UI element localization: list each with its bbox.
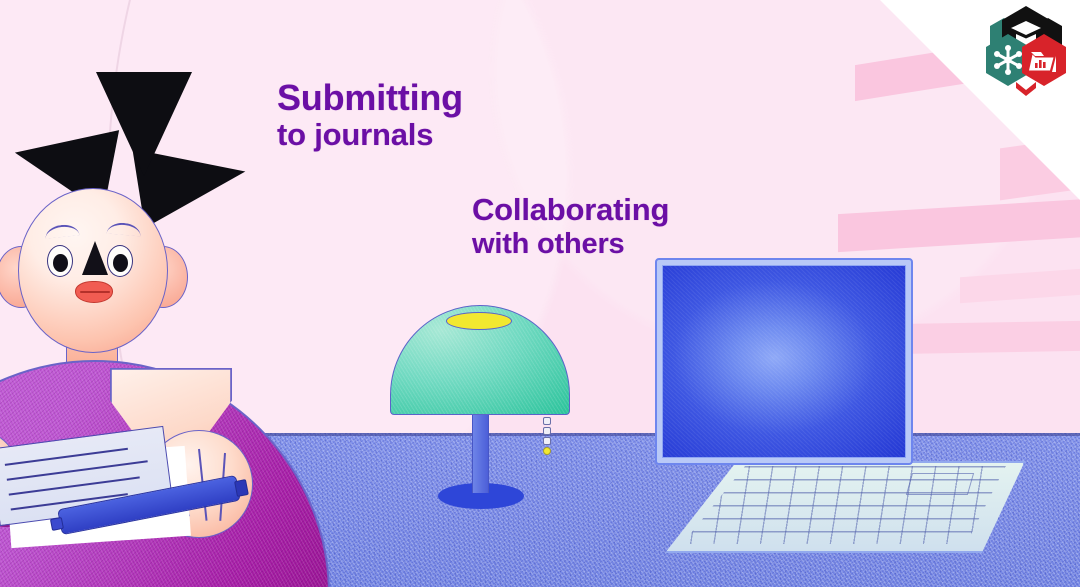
chain-bead bbox=[543, 427, 551, 435]
paper-rule-line bbox=[5, 448, 128, 466]
nose bbox=[82, 241, 108, 275]
head bbox=[18, 188, 168, 353]
headline-submitting-line2: to journals bbox=[277, 118, 463, 153]
laptop bbox=[655, 258, 1025, 548]
hair-spike-middle bbox=[96, 72, 192, 176]
laptop-screen bbox=[662, 265, 906, 458]
headline-submitting-line1: Submitting bbox=[277, 77, 463, 118]
paper-rule-line bbox=[9, 476, 140, 495]
illustration-banner: Submitting to journals Collaborating wit… bbox=[0, 0, 1080, 587]
table-lamp bbox=[390, 305, 570, 505]
pupil-left bbox=[53, 254, 68, 272]
headline-submitting: Submitting to journals bbox=[277, 78, 463, 153]
lips bbox=[75, 281, 113, 303]
eye-left bbox=[47, 245, 73, 277]
pupil-right bbox=[113, 254, 128, 272]
brand-logo[interactable] bbox=[978, 4, 1074, 96]
headline-collaborating: Collaborating with others bbox=[472, 193, 669, 260]
headline-collaborating-line2: with others bbox=[472, 228, 669, 260]
pen-tip bbox=[50, 517, 64, 531]
laptop-trackpad bbox=[906, 473, 974, 495]
eyebrow-left bbox=[44, 223, 79, 238]
lamp-pull-chain bbox=[543, 417, 552, 457]
chain-bead bbox=[543, 437, 551, 445]
laptop-lid bbox=[655, 258, 913, 465]
headline-collaborating-line1: Collaborating bbox=[472, 192, 669, 227]
chevron-down-icon bbox=[1016, 82, 1036, 96]
chain-bead bbox=[543, 417, 551, 425]
lamp-stem bbox=[472, 411, 489, 493]
lamp-bulb-opening bbox=[446, 312, 512, 330]
eyebrow-right bbox=[107, 222, 142, 237]
chain-bead-end bbox=[543, 447, 551, 455]
eye-right bbox=[107, 245, 133, 277]
